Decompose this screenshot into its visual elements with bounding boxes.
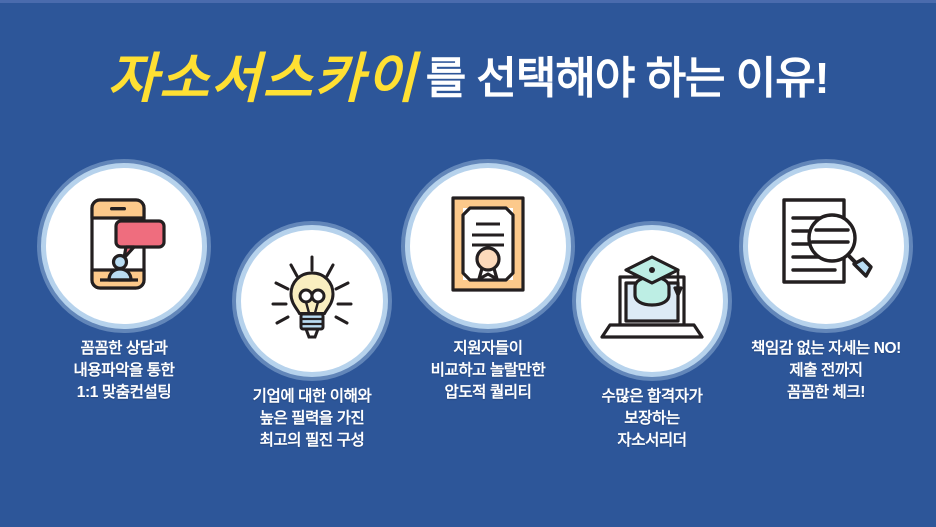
caption-line: 제출 전까지 [726, 360, 926, 382]
caption-line: 자소서리더 [552, 430, 752, 452]
caption-line: 내용파악을 통한 [24, 360, 224, 382]
feature-icon-bubble [748, 168, 904, 324]
caption-line: 높은 필력을 가진 [212, 408, 412, 430]
caption-line: 꼼꼼한 체크! [726, 382, 926, 404]
feature-item-leader: 수많은 합격자가 보장하는 자소서리더 [552, 230, 752, 452]
feature-caption: 꼼꼼한 상담과 내용파악을 통한 1:1 맞춤컨설팅 [24, 338, 224, 404]
caption-line: 책임감 없는 자세는 NO! [726, 338, 926, 360]
document-magnifier-icon [776, 194, 876, 299]
feature-item-consulting: 꼼꼼한 상담과 내용파악을 통한 1:1 맞춤컨설팅 [24, 168, 224, 404]
feature-caption: 수많은 합격자가 보장하는 자소서리더 [552, 386, 752, 452]
promo-poster: 자소서스카이를 선택해야 하는 이유! [0, 0, 936, 527]
certificate-icon [445, 193, 531, 300]
top-accent-strip [0, 0, 936, 3]
caption-line: 보장하는 [552, 408, 752, 430]
brand-name-text: 자소서스카이 [108, 49, 418, 109]
feature-icon-bubble [581, 230, 723, 372]
feature-item-writers: 기업에 대한 이해와 높은 필력을 가진 최고의 필진 구성 [212, 230, 412, 452]
feature-item-check: 책임감 없는 자세는 NO! 제출 전까지 꼼꼼한 체크! [726, 168, 926, 404]
caption-line: 1:1 맞춤컨설팅 [24, 382, 224, 404]
caption-line: 수많은 합격자가 [552, 386, 752, 408]
headline-suffix-text: 를 선택해야 하는 이유! [426, 54, 829, 103]
caption-line: 기업에 대한 이해와 [212, 386, 412, 408]
caption-line: 꼼꼼한 상담과 [24, 338, 224, 360]
page-title: 자소서스카이를 선택해야 하는 이유! [0, 52, 936, 106]
feature-icon-bubble [410, 168, 566, 324]
feature-caption: 책임감 없는 자세는 NO! 제출 전까지 꼼꼼한 체크! [726, 338, 926, 404]
caption-line: 최고의 필진 구성 [212, 430, 412, 452]
feature-icon-bubble [241, 230, 383, 372]
feature-icon-bubble [46, 168, 202, 324]
laptop-graduation-icon [600, 253, 704, 350]
feature-caption: 기업에 대한 이해와 높은 필력을 가진 최고의 필진 구성 [212, 386, 412, 452]
smartphone-chat-icon [78, 194, 170, 299]
lightbulb-icon [264, 251, 360, 352]
